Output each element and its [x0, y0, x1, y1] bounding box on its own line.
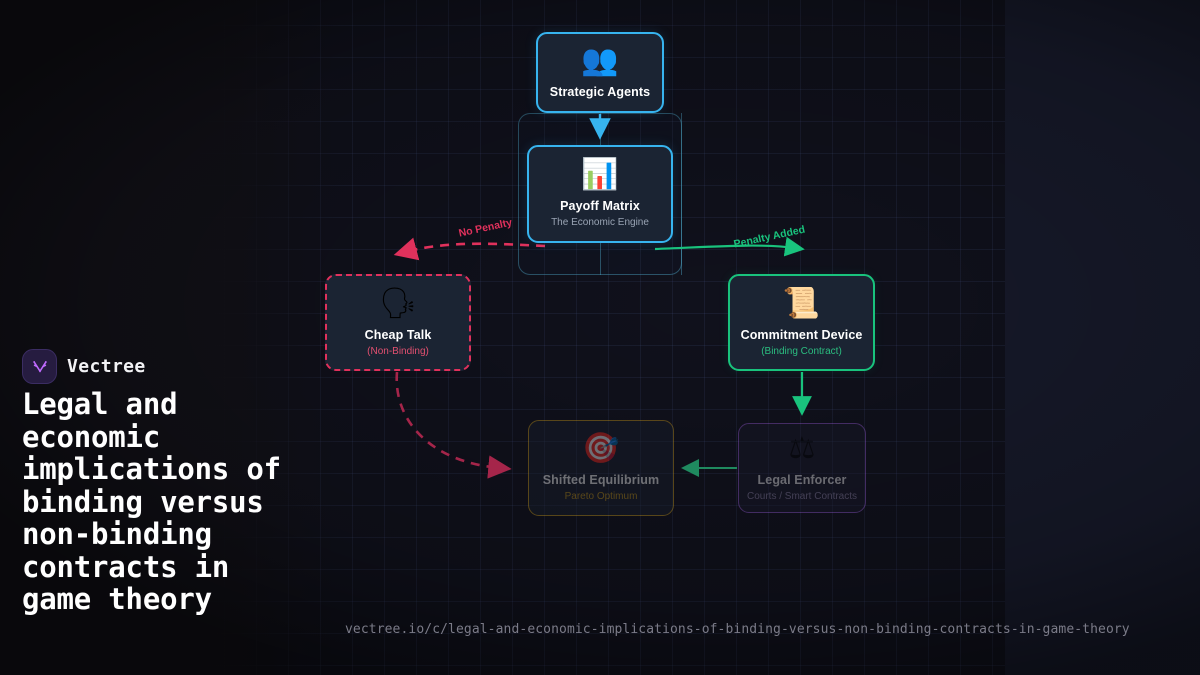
node-title: Cheap Talk — [365, 328, 432, 342]
scroll-icon: 📜 — [783, 289, 820, 319]
diagram-screenshot: No Penalty Penalty Added 👥 Strategic Age… — [0, 0, 1200, 675]
node-commitment-device[interactable]: 📜 Commitment Device (Binding Contract) — [728, 274, 875, 371]
vectree-logo-icon — [22, 349, 57, 384]
node-subtitle: The Economic Engine — [551, 217, 649, 228]
bar-chart-icon: 📊 — [581, 160, 618, 190]
payoff-group-divider-right — [681, 113, 682, 275]
node-cheap-talk[interactable]: 🗣 Cheap Talk (Non-Binding) — [325, 274, 471, 371]
node-subtitle: (Non-Binding) — [367, 346, 429, 357]
node-shifted-equilibrium[interactable]: 🎯 Shifted Equilibrium Pareto Optimum — [528, 420, 674, 516]
page-title: Legal and economic implications of bindi… — [22, 388, 312, 616]
footer-url: vectree.io/c/legal-and-economic-implicat… — [345, 622, 1130, 637]
speaking-head-icon: 🗣 — [379, 289, 417, 319]
node-subtitle: (Binding Contract) — [761, 346, 842, 357]
brand: Vectree — [22, 349, 146, 384]
node-title: Legal Enforcer — [758, 473, 847, 487]
two-people-icon: 👥 — [581, 46, 618, 76]
balance-scale-icon: ⚖ — [789, 434, 816, 464]
node-title: Strategic Agents — [550, 85, 650, 99]
node-subtitle: Courts / Smart Contracts — [747, 491, 857, 502]
node-payoff-matrix[interactable]: 📊 Payoff Matrix The Economic Engine — [527, 145, 673, 243]
node-title: Shifted Equilibrium — [543, 473, 659, 487]
node-title: Payoff Matrix — [560, 199, 640, 213]
node-title: Commitment Device — [741, 328, 863, 342]
brand-name: Vectree — [67, 356, 146, 377]
node-strategic-agents[interactable]: 👥 Strategic Agents — [536, 32, 664, 113]
node-legal-enforcer[interactable]: ⚖ Legal Enforcer Courts / Smart Contract… — [738, 423, 866, 513]
target-icon: 🎯 — [582, 434, 619, 464]
diagram-canvas-right-pane — [1005, 0, 1200, 675]
node-subtitle: Pareto Optimum — [565, 491, 638, 502]
